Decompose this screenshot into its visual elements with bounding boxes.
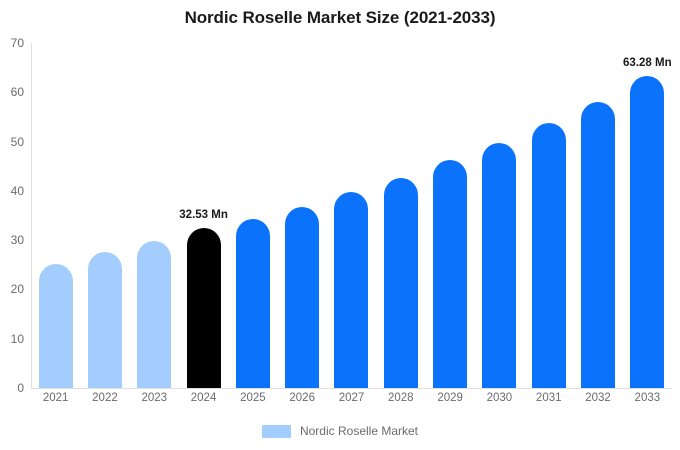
x-axis-tick-label-2026: 2026 <box>289 392 315 404</box>
bar-value-label-2033: 63.28 Mn <box>623 57 672 69</box>
bar-slot: 63.28 Mn <box>623 43 672 388</box>
y-axis-tick-label: 50 <box>11 135 24 149</box>
bar-slot <box>327 43 376 388</box>
x-axis-tick-label-2032: 2032 <box>585 392 611 404</box>
bar-slot <box>130 43 179 388</box>
legend-item-label: Nordic Roselle Market <box>300 424 418 438</box>
x-axis-line <box>31 388 672 389</box>
bar-2024[interactable] <box>187 228 221 388</box>
x-axis-tick-label-2030: 2030 <box>487 392 513 404</box>
bar-2022[interactable] <box>88 252 122 388</box>
y-axis-tick-label: 30 <box>11 233 24 247</box>
bar-slot <box>376 43 425 388</box>
bar-2033[interactable] <box>630 76 664 388</box>
y-axis-tick-label: 40 <box>11 184 24 198</box>
x-axis-tick-label-2029: 2029 <box>437 392 463 404</box>
x-axis-tick-label-2033: 2033 <box>635 392 661 404</box>
x-axis-tick-label-2025: 2025 <box>240 392 266 404</box>
y-axis-tick-label: 20 <box>11 282 24 296</box>
bar-2032[interactable] <box>581 102 615 388</box>
bar-slot <box>228 43 277 388</box>
bar-slot <box>278 43 327 388</box>
x-axis-tick-label-2021: 2021 <box>43 392 69 404</box>
x-axis-tick-label-2023: 2023 <box>141 392 167 404</box>
bar-2023[interactable] <box>137 241 171 388</box>
chart-legend: Nordic Roselle Market <box>0 424 680 438</box>
bar-2026[interactable] <box>285 207 319 388</box>
bar-slot <box>80 43 129 388</box>
bar-slot <box>475 43 524 388</box>
bar-2030[interactable] <box>482 143 516 388</box>
y-axis-tick-label: 0 <box>17 381 24 395</box>
bar-value-label-2024: 32.53 Mn <box>179 209 228 221</box>
x-axis-tick-label-2031: 2031 <box>536 392 562 404</box>
y-axis-tick-label: 60 <box>11 85 24 99</box>
plot-area: 32.53 Mn63.28 Mn 010203040506070 2021202… <box>31 43 672 388</box>
bar-2021[interactable] <box>39 264 73 388</box>
x-axis-tick-label-2028: 2028 <box>388 392 414 404</box>
y-axis-tick-label: 70 <box>11 36 24 50</box>
bars-container: 32.53 Mn63.28 Mn <box>31 43 672 388</box>
x-axis-tick-label-2022: 2022 <box>92 392 118 404</box>
bar-2027[interactable] <box>334 192 368 388</box>
bar-slot <box>573 43 622 388</box>
x-axis-tick-label-2027: 2027 <box>339 392 365 404</box>
bar-2025[interactable] <box>236 219 270 388</box>
bar-slot: 32.53 Mn <box>179 43 228 388</box>
bar-slot <box>524 43 573 388</box>
x-axis-tick-label-2024: 2024 <box>191 392 217 404</box>
bar-slot <box>31 43 80 388</box>
bar-2029[interactable] <box>433 160 467 388</box>
bar-2031[interactable] <box>532 123 566 388</box>
y-axis-tick-label: 10 <box>11 332 24 346</box>
bar-slot <box>425 43 474 388</box>
bar-chart: Nordic Roselle Market Size (2021-2033) 3… <box>0 0 680 450</box>
legend-swatch-icon <box>262 425 291 438</box>
chart-title: Nordic Roselle Market Size (2021-2033) <box>0 8 680 28</box>
bar-2028[interactable] <box>384 178 418 388</box>
